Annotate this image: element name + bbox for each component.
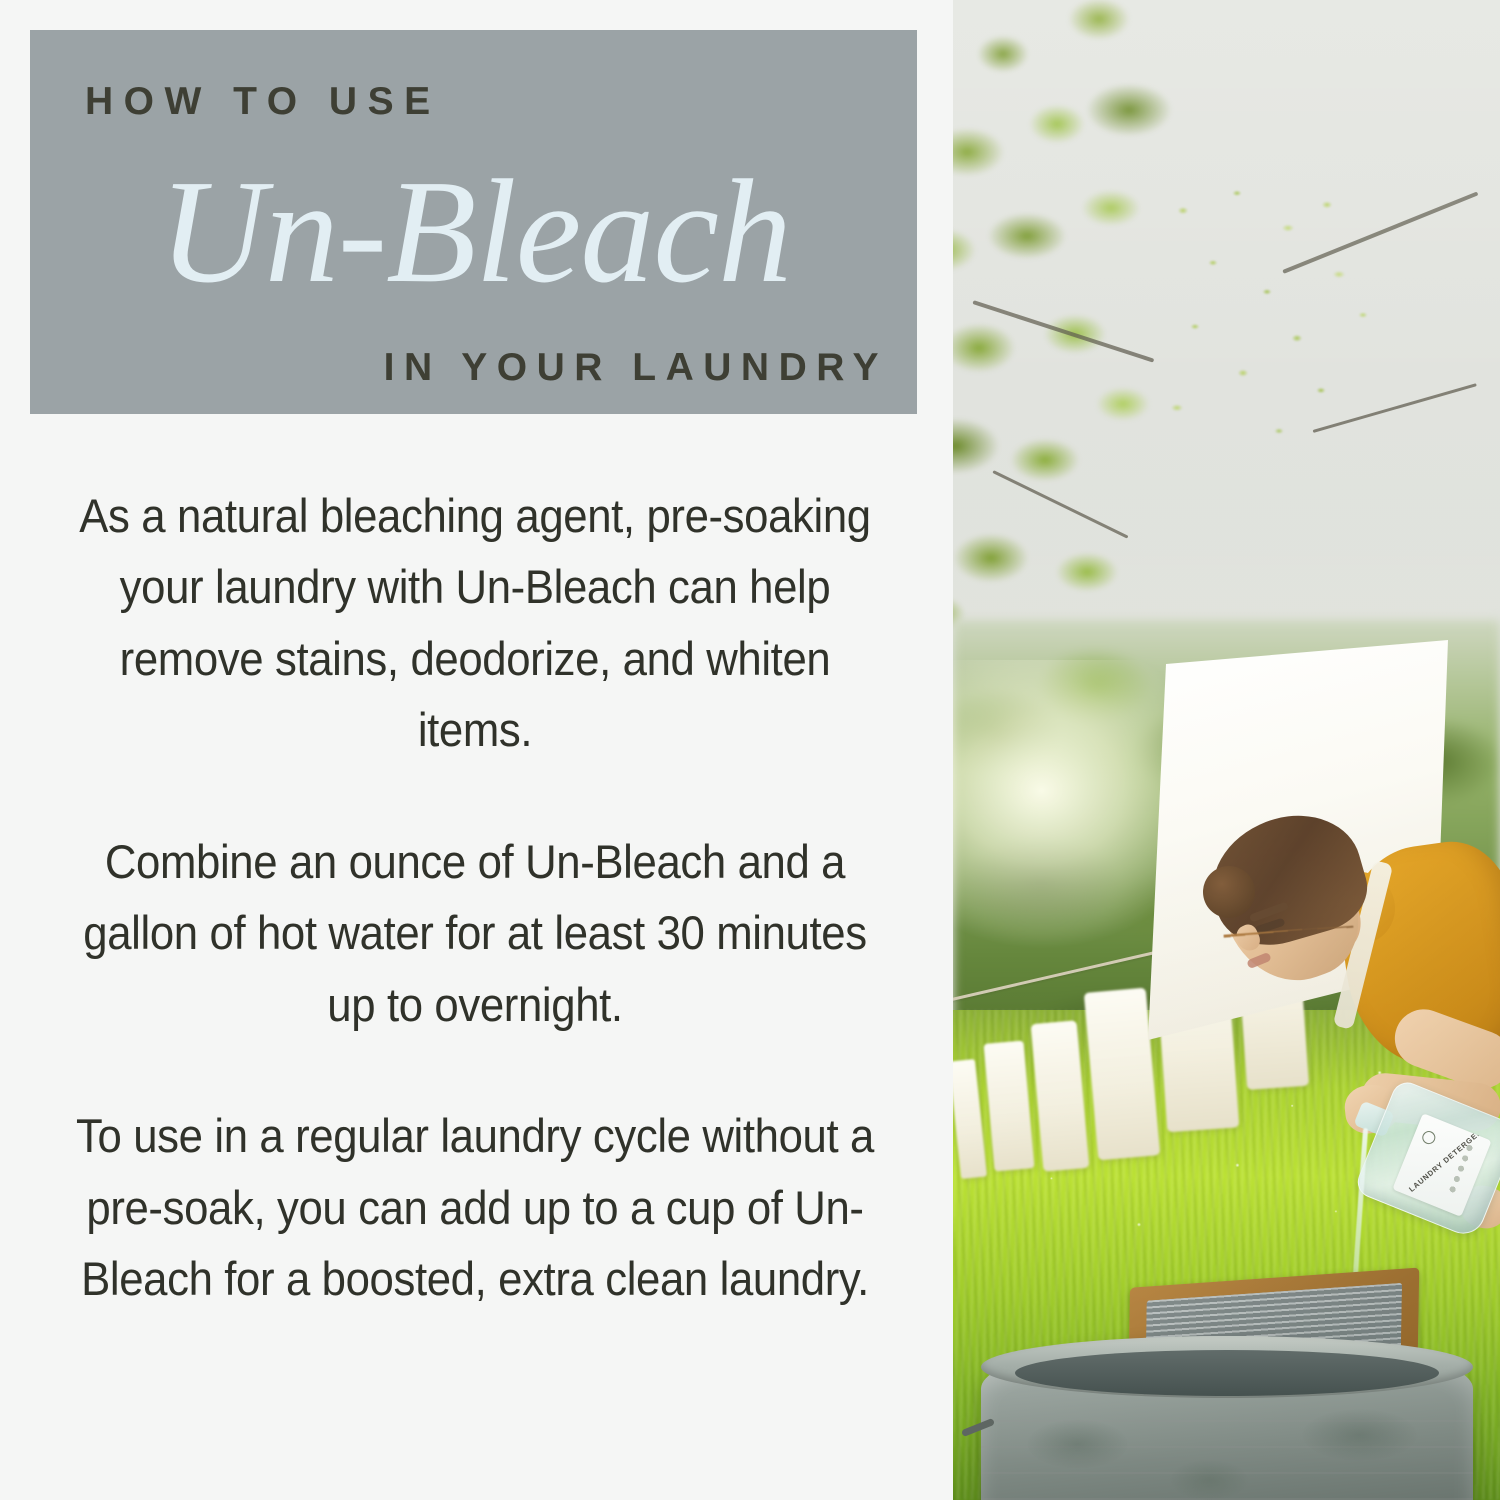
washtub-water xyxy=(1015,1350,1439,1396)
text-column: HOW TO USE Un-Bleach IN YOUR LAUNDRY As … xyxy=(0,0,950,1500)
infographic-page: HOW TO USE Un-Bleach IN YOUR LAUNDRY As … xyxy=(0,0,1500,1500)
woman-hair-bun xyxy=(1203,866,1255,918)
header-banner: HOW TO USE Un-Bleach IN YOUR LAUNDRY xyxy=(30,30,917,414)
paragraph-3: To use in a regular laundry cycle withou… xyxy=(66,1100,884,1314)
subhead-text: IN YOUR LAUNDRY xyxy=(30,348,917,387)
scattered-leaves xyxy=(1123,170,1423,460)
body-copy: As a natural bleaching agent, pre-soakin… xyxy=(35,480,915,1314)
seal-icon xyxy=(1420,1129,1437,1146)
washtub-patina xyxy=(993,1390,1463,1500)
eyebrow-text: HOW TO USE xyxy=(85,82,441,121)
script-title: Un-Bleach xyxy=(80,140,870,325)
lifestyle-photo: LAUNDRY DETERGENT xyxy=(953,0,1500,1500)
paragraph-2: Combine an ounce of Un-Bleach and a gall… xyxy=(66,826,884,1040)
paragraph-1: As a natural bleaching agent, pre-soakin… xyxy=(66,480,884,766)
